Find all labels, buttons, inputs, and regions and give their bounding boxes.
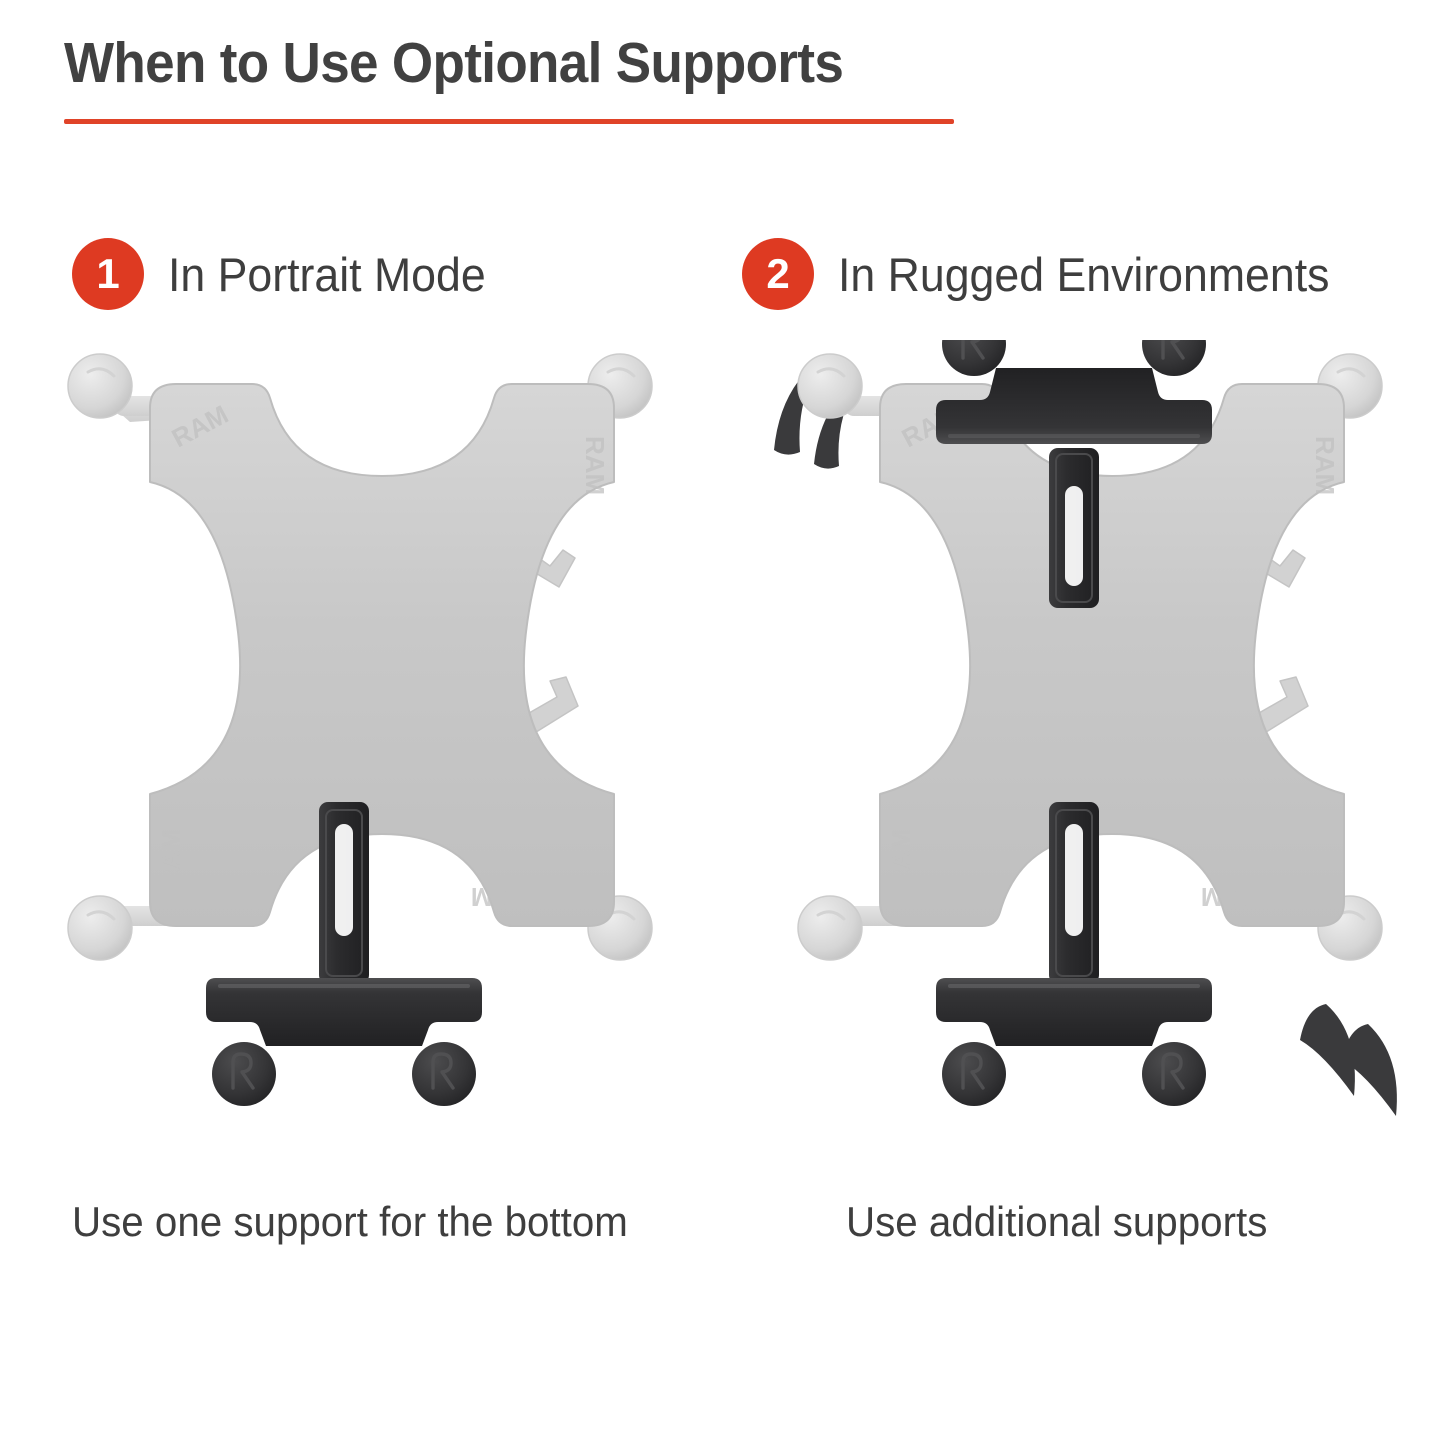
vibration-marks-bottom-right — [1300, 1004, 1397, 1116]
step-label-1: In Portrait Mode — [168, 247, 486, 302]
illustration-panel-2: RAM RAM RAM RAM — [760, 340, 1420, 1170]
title-divider-rule — [64, 119, 954, 124]
caption-step-1: Use one support for the bottom — [72, 1198, 628, 1246]
cradle-body — [150, 384, 614, 926]
step-header-1: 1 In Portrait Mode — [72, 238, 502, 310]
infographic-page: When to Use Optional Supports 1 In Portr… — [0, 0, 1445, 1445]
step-label-2: In Rugged Environments — [838, 247, 1329, 302]
caption-step-2: Use additional supports — [846, 1198, 1267, 1246]
page-title: When to Use Optional Supports — [64, 30, 843, 96]
cradle-body — [880, 384, 1344, 926]
illustration-panel-1: RAM RAM RAM RAM — [30, 340, 690, 1170]
svg-text:RAM: RAM — [1310, 436, 1340, 495]
svg-text:RAM: RAM — [886, 829, 916, 888]
svg-text:RAM: RAM — [1201, 882, 1260, 912]
step-badge-1: 1 — [72, 238, 144, 310]
svg-text:RAM: RAM — [580, 436, 610, 495]
step-badge-2: 2 — [742, 238, 814, 310]
svg-text:RAM: RAM — [471, 882, 530, 912]
step-header-2: 2 In Rugged Environments — [742, 238, 1355, 310]
svg-text:RAM: RAM — [156, 829, 186, 888]
